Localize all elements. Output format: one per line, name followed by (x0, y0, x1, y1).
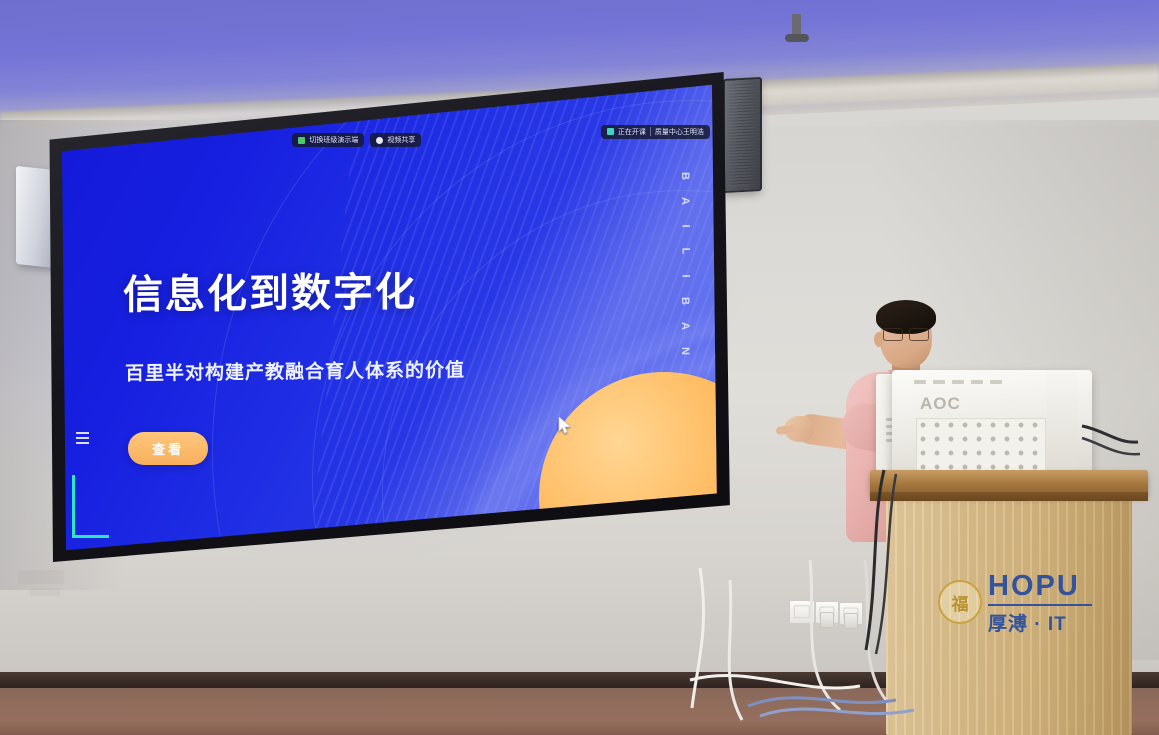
menu-icon[interactable] (76, 432, 89, 444)
toolbar-chip-label: 正在开课 (618, 127, 646, 137)
slide-toolbar-left[interactable]: 切换班级演示端 视频共享 (292, 133, 421, 147)
ceiling-mount-bracket (792, 14, 801, 36)
signal-bars-icon (298, 137, 305, 144)
led-display-screen[interactable]: 切换班级演示端 视频共享 正在开课 质量中心王明浩 (44, 72, 734, 562)
monitor-brand-label: AOC (920, 394, 961, 414)
brand-letter: N (679, 347, 691, 355)
lecture-hall-scene: 切换班级演示端 视频共享 正在开课 质量中心王明浩 (0, 0, 1159, 735)
corner-bracket-bottom-left (72, 475, 109, 538)
slide-subtitle: 百里半对构建产教融合育人体系的价值 (125, 355, 465, 386)
slide-toolbar-right[interactable]: 正在开课 质量中心王明浩 (601, 125, 710, 139)
monitor-vent-mesh (916, 418, 1046, 472)
chip-divider (650, 127, 651, 136)
slide-title: 信息化到数字化 (123, 259, 417, 320)
podium-logo: HOPU 厚溥 · IT (988, 572, 1092, 636)
brand-letter: L (679, 248, 691, 255)
podium-logo-rule (988, 604, 1092, 606)
presentation-slide: 切换班级演示端 视频共享 正在开课 质量中心王明浩 (44, 72, 734, 562)
monitor-stand (1047, 372, 1077, 476)
monitor-vents (914, 380, 1002, 384)
cable-monitor (1082, 420, 1159, 500)
brand-letter: I (679, 224, 691, 227)
brand-letter: B (679, 172, 691, 180)
cloud-icon (376, 137, 383, 144)
wall-mark (18, 570, 64, 584)
podium-logo-cn: 厚溥 · IT (988, 609, 1092, 636)
toolbar-chip-share[interactable]: 视频共享 (370, 133, 421, 147)
screen-surface: 切换班级演示端 视频共享 正在开课 质量中心王明浩 (44, 72, 734, 562)
brand-letter: A (679, 197, 691, 205)
wall-mark (30, 588, 60, 596)
brand-letter: B (679, 297, 691, 305)
aoc-monitor-back: AOC (892, 370, 1092, 478)
vertical-brand-bailiban: B A I L I B A N (681, 170, 689, 357)
cable-bundle-podium (862, 470, 982, 670)
podium-logo-latin: HOPU (988, 572, 1092, 601)
corner-bracket-top-left (72, 92, 109, 141)
toolbar-chip-label: 视频共享 (387, 135, 415, 145)
glasses-icon (883, 328, 929, 339)
cyan-top-line (65, 92, 313, 95)
slide-view-button[interactable]: 查看 (128, 432, 208, 465)
toolbar-chip-status[interactable]: 正在开课 质量中心王明浩 (601, 125, 710, 139)
brand-letter: I (679, 274, 691, 277)
toolbar-chip-user: 质量中心王明浩 (655, 127, 704, 137)
toolbar-chip-label: 切换班级演示端 (309, 135, 358, 145)
app-icon (607, 128, 614, 135)
toolbar-chip-switch-class[interactable]: 切换班级演示端 (292, 133, 364, 147)
brand-letter: A (679, 322, 691, 330)
